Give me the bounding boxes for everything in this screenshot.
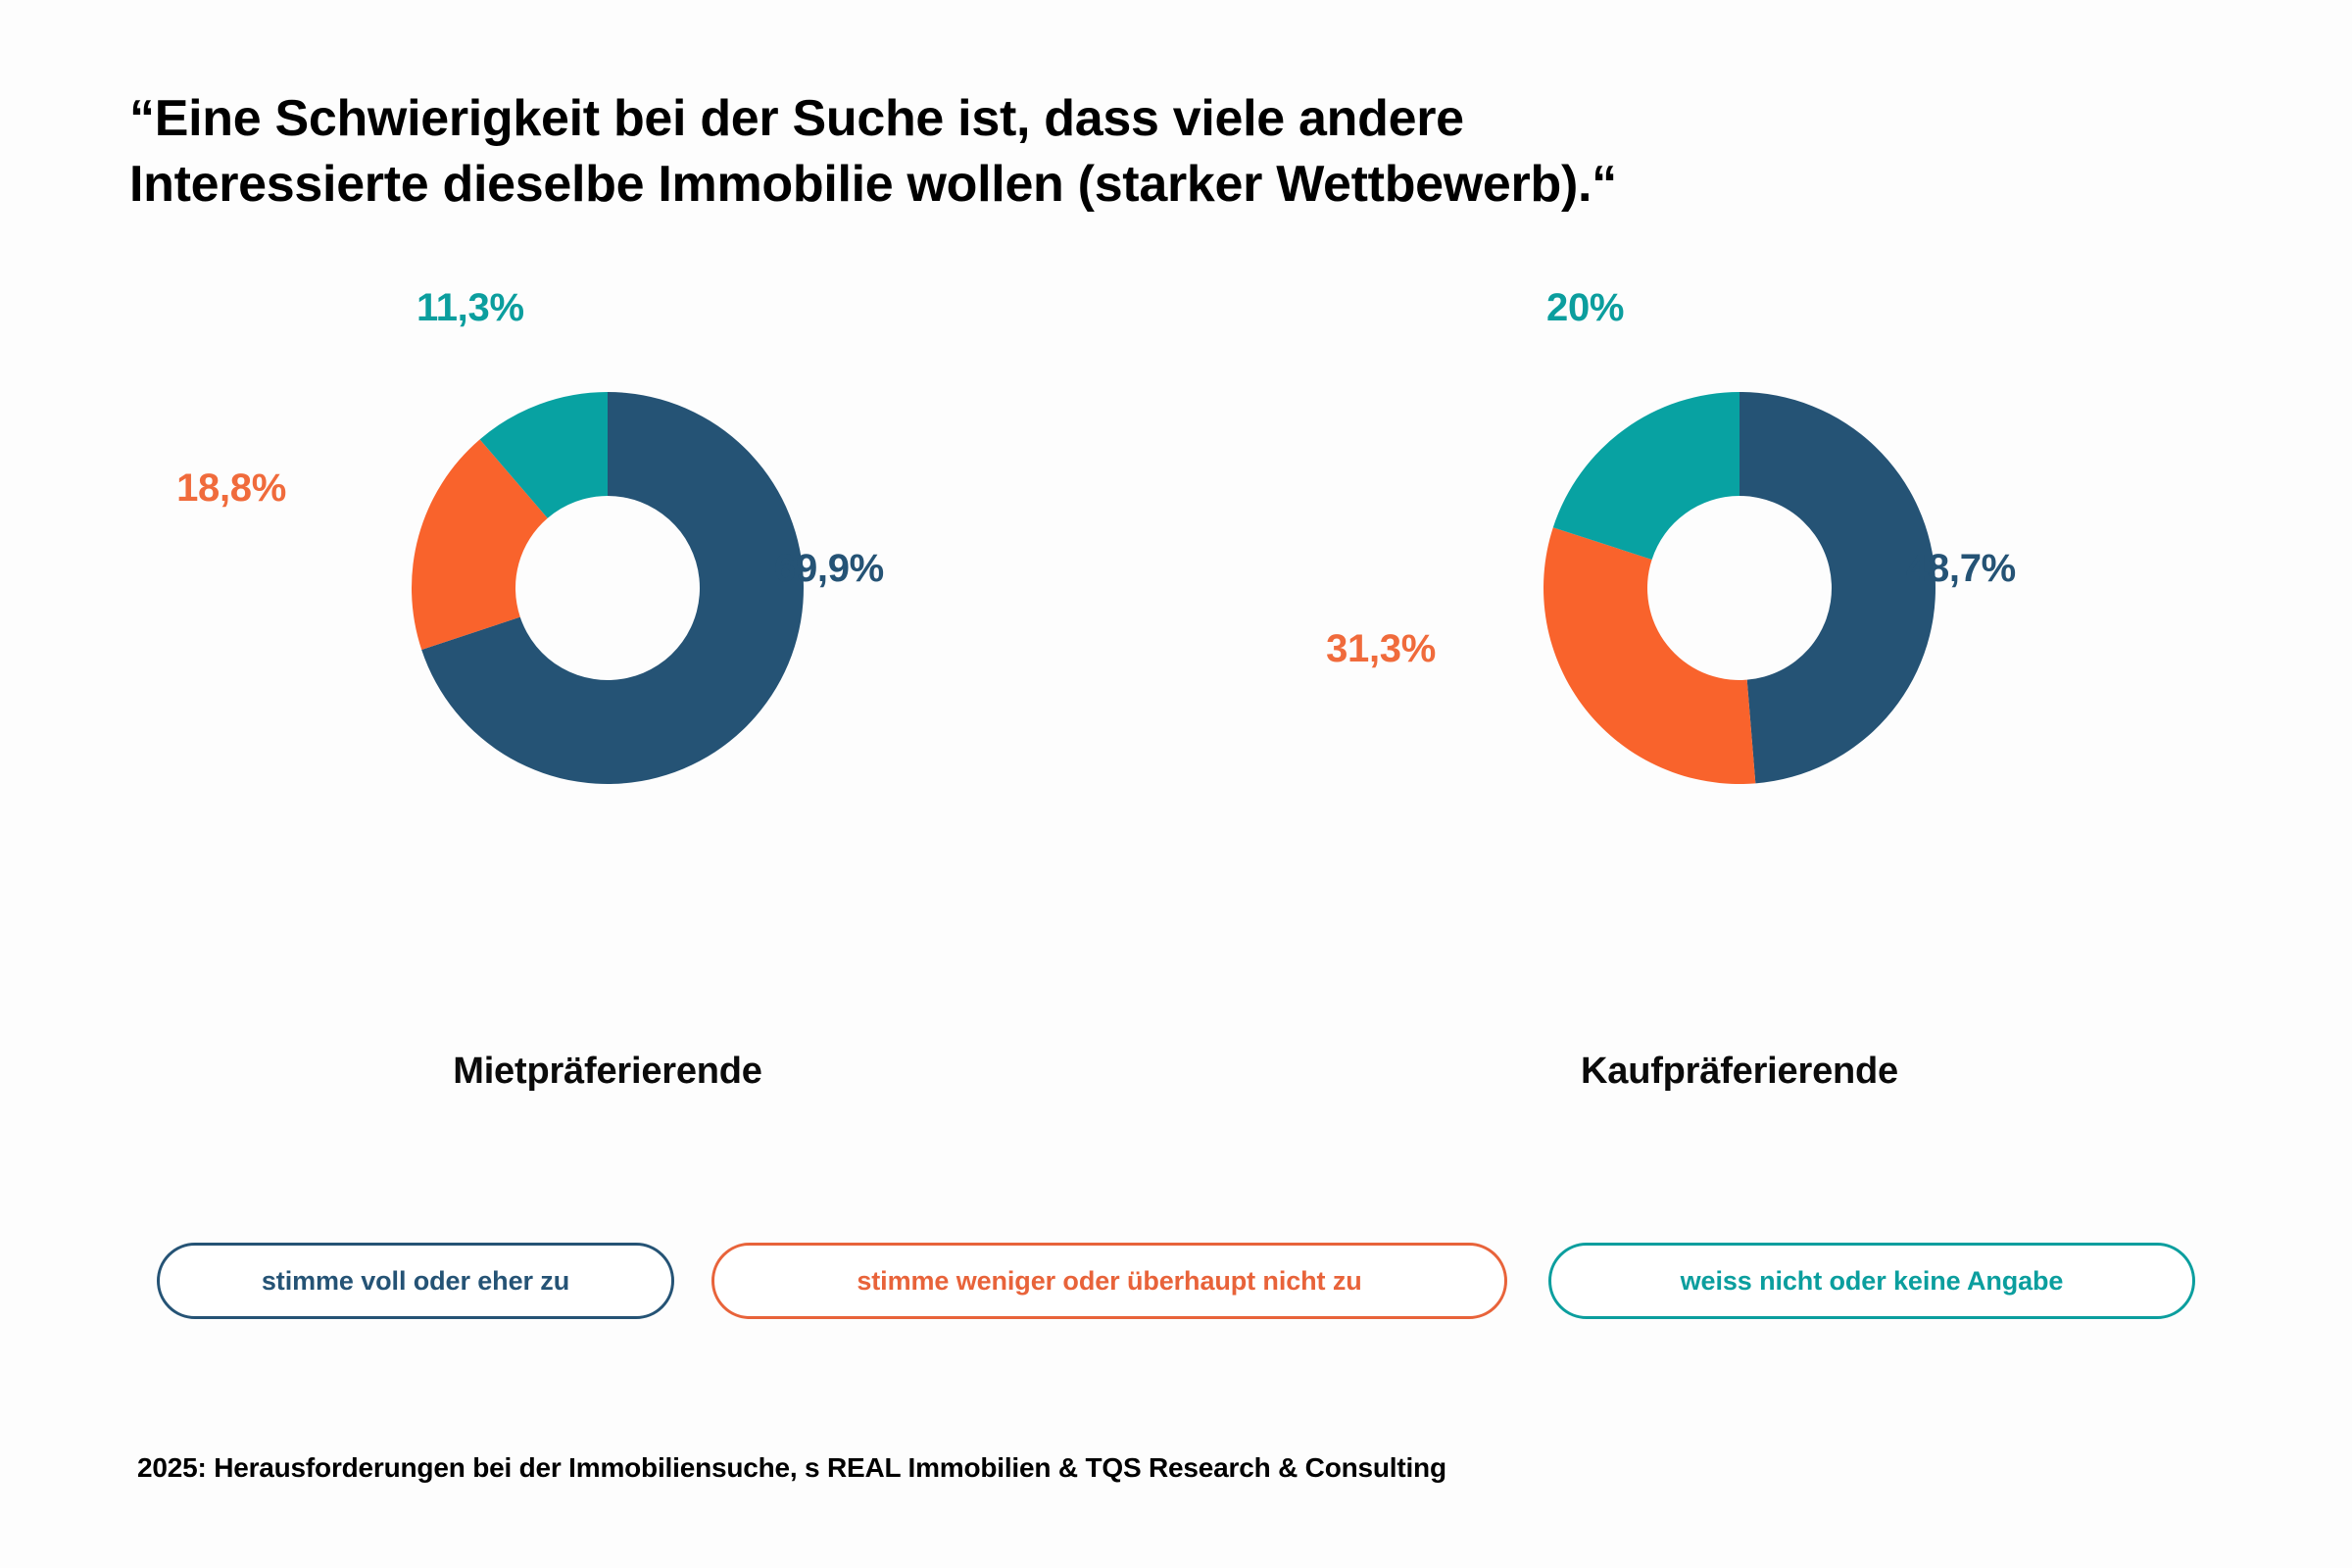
legend-label-disagree: stimme weniger oder überhaupt nicht zu [857, 1266, 1361, 1297]
donut-svg-0 [410, 390, 806, 786]
donut-slice [1553, 392, 1739, 560]
legend-item-dontknow[interactable]: weiss nicht oder keine Angabe [1548, 1243, 2195, 1319]
chart-category-label-1: Kaufpräferierende [1298, 1051, 2180, 1093]
donut-chart-mietpraeferierende: 69,9% 18,8% 11,3% Mietpräferierende [167, 323, 1049, 1137]
charts-container: 69,9% 18,8% 11,3% Mietpräferierende 48,7… [0, 323, 2352, 1137]
title-line-1: “Eine Schwierigkeit bei der Suche ist, d… [129, 86, 2187, 152]
source-note: 2025: Herausforderungen bei der Immobili… [137, 1452, 1446, 1484]
slice-value-agree-1: 48,7% [1906, 547, 2016, 591]
slice-value-dontknow-0: 11,3% [416, 286, 524, 330]
donut-graphic-1 [1542, 390, 1937, 786]
title-line-2: Interessierte dieselbe Immobilie wollen … [129, 152, 2187, 218]
legend-item-disagree[interactable]: stimme weniger oder überhaupt nicht zu [711, 1243, 1507, 1319]
donut-chart-kaufpraeferierende: 48,7% 31,3% 20% Kaufpräferierende [1298, 323, 2180, 1137]
slice-value-disagree-1: 31,3% [1298, 627, 1436, 671]
chart-category-label-0: Mietpräferierende [167, 1051, 1049, 1093]
slice-value-dontknow-1: 20% [1546, 286, 1624, 330]
donut-graphic-0 [410, 390, 806, 786]
legend-item-agree[interactable]: stimme voll oder eher zu [157, 1243, 674, 1319]
donut-svg-1 [1542, 390, 1937, 786]
infographic-page: “Eine Schwierigkeit bei der Suche ist, d… [0, 0, 2352, 1568]
donut-slice [1543, 527, 1755, 784]
legend-label-dontknow: weiss nicht oder keine Angabe [1681, 1266, 2064, 1297]
slice-value-agree-0: 69,9% [774, 547, 884, 591]
legend-label-agree: stimme voll oder eher zu [262, 1266, 569, 1297]
slice-value-disagree-0: 18,8% [167, 466, 286, 511]
page-title: “Eine Schwierigkeit bei der Suche ist, d… [129, 86, 2187, 217]
chart-legend: stimme voll oder eher zu stimme weniger … [0, 1243, 2352, 1350]
